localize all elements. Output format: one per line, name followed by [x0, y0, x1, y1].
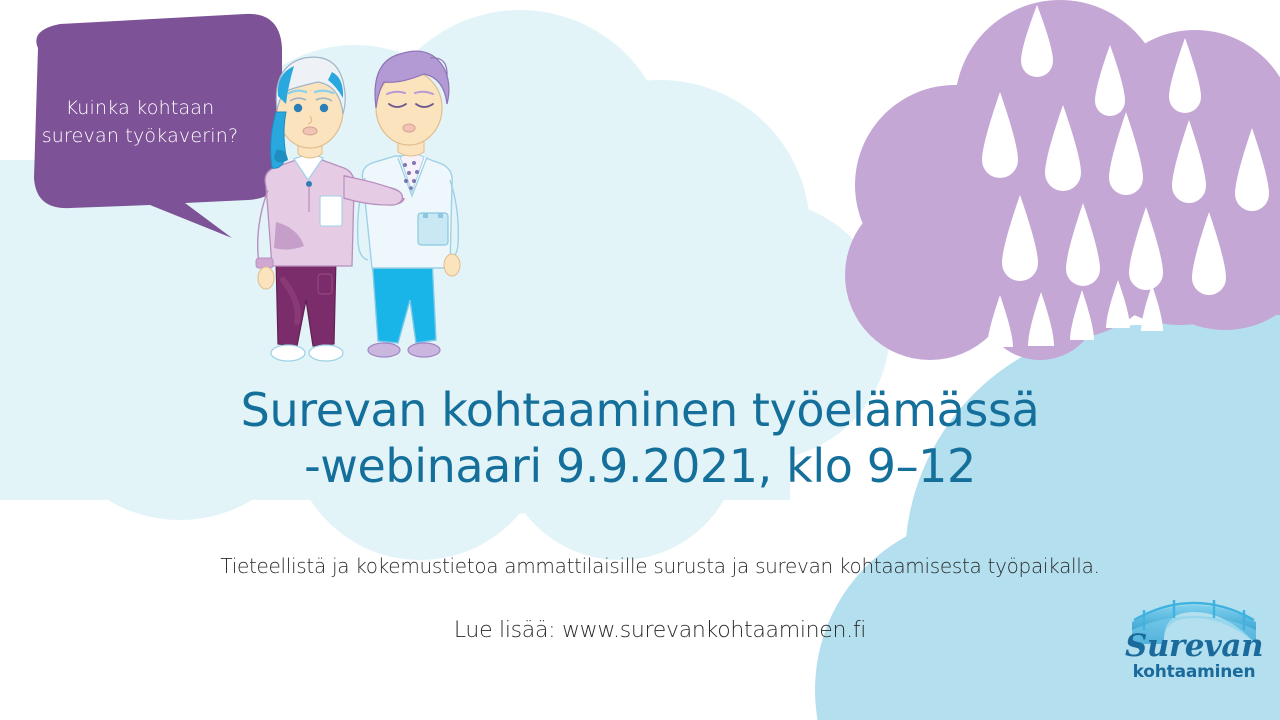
- page-title: Surevan kohtaaminen työelämässä -webinaa…: [110, 382, 1170, 494]
- logo-script-word: Surevan: [1120, 628, 1268, 664]
- text-layer: Kuinka kohtaan surevan työkaverin? Surev…: [0, 0, 1280, 720]
- speech-bubble-text: Kuinka kohtaan surevan työkaverin?: [20, 94, 260, 150]
- surevan-kohtaaminen-logo[interactable]: Surevan kohtaaminen: [1120, 596, 1268, 692]
- poster-canvas: Kuinka kohtaan surevan työkaverin? Surev…: [0, 0, 1280, 720]
- subtitle-text: Tieteellistä ja kokemustietoa ammattilai…: [90, 552, 1230, 580]
- read-more-link[interactable]: Lue lisää: www.surevankohtaaminen.fi: [90, 616, 1230, 646]
- logo-bold-word: kohtaaminen: [1120, 662, 1268, 682]
